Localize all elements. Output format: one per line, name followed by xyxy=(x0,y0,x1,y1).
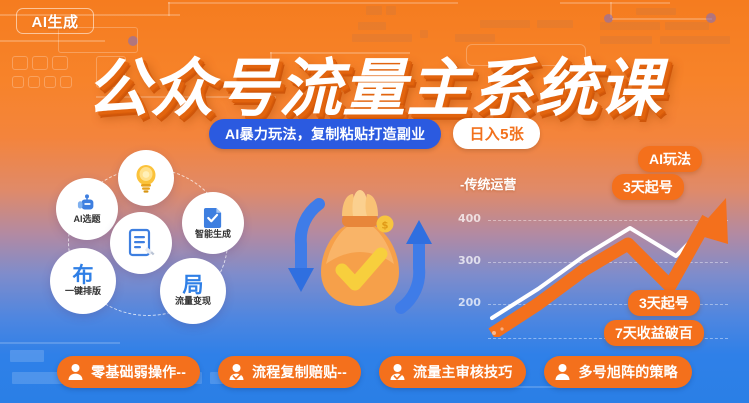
chart-annotation-7day: 7天收益破百 xyxy=(604,320,704,346)
page-title: 公众号流量主系统课 xyxy=(0,38,749,129)
workflow-diagram: AI选题 智能生成 xyxy=(34,150,284,330)
user-icon xyxy=(67,363,84,381)
subtitle-pill: AI暴力玩法，复制粘贴打造副业 xyxy=(209,119,442,149)
diagram-node-monetize: 局 流量变现 xyxy=(160,258,226,324)
diagram-node-generate: 智能生成 xyxy=(182,192,244,254)
poster-canvas: AI生成 公众号流量主系统课 AI暴力玩法，复制粘贴打造副业 日入5张 AI选题 xyxy=(0,0,749,403)
diagram-node-layout: 布 一键排版 xyxy=(50,248,116,314)
bottom-pill-label: 零基础弱操作-- xyxy=(91,362,186,382)
lightbulb-icon xyxy=(132,163,160,193)
user-check-icon xyxy=(228,363,245,381)
bottom-pill-4[interactable]: 多号旭阵的策略 xyxy=(544,356,691,388)
bottom-pill-2[interactable]: 流程复制赔贴-- xyxy=(218,356,361,388)
bottom-pill-label: 多号旭阵的策略 xyxy=(578,362,677,382)
diagram-node-label: 流量变现 xyxy=(175,297,211,307)
diagram-node-label: 一键排版 xyxy=(65,287,101,297)
diagram-node-idea xyxy=(118,150,174,206)
document-pen-icon xyxy=(126,227,156,259)
ai-robot-icon xyxy=(76,194,98,214)
check-doc-icon xyxy=(203,207,224,229)
money-bag-check-icon: $ xyxy=(285,186,435,326)
user-icon xyxy=(554,363,571,381)
diagram-node-label: 智能生成 xyxy=(195,230,231,240)
diagram-node-topic: AI选题 xyxy=(56,178,118,240)
chart-annotation-3day-top: 3天起号 xyxy=(612,174,684,200)
bottom-pill-1[interactable]: 零基础弱操作-- xyxy=(57,356,200,388)
highlight-pill: 日入5张 xyxy=(453,118,540,149)
refresh-arrow-right-icon xyxy=(401,220,432,308)
center-graphic: $ xyxy=(285,186,435,326)
chart-annotation-3day-bottom: 3天起号 xyxy=(628,290,700,316)
bottom-pill-label: 流程复制赔贴-- xyxy=(252,362,347,382)
diagram-node-label: AI选题 xyxy=(73,215,100,225)
diagram-node-big-char: 布 xyxy=(73,265,94,286)
chart-annotation-ai-method: AI玩法 xyxy=(638,146,702,172)
svg-text:$: $ xyxy=(382,221,389,232)
bottom-pill-3[interactable]: 流量主审核技巧 xyxy=(379,356,526,388)
subtitle-row: AI暴力玩法，复制粘贴打造副业 日入5张 xyxy=(0,118,749,149)
ai-generated-badge: AI生成 xyxy=(16,8,94,34)
user-check-icon xyxy=(389,363,406,381)
growth-chart: -传统运营 400 300 200 AI玩法 3天起号 3天起号 7天收益破百 xyxy=(452,152,742,337)
bottom-feature-bar: 零基础弱操作-- 流程复制赔贴-- 流量主审核技巧 多号旭阵的策略 xyxy=(0,355,749,389)
refresh-arrow-left-icon xyxy=(288,204,319,292)
diagram-node-center xyxy=(110,212,172,274)
bottom-pill-label: 流量主审核技巧 xyxy=(413,362,512,382)
diagram-node-big-char: 局 xyxy=(183,275,204,296)
